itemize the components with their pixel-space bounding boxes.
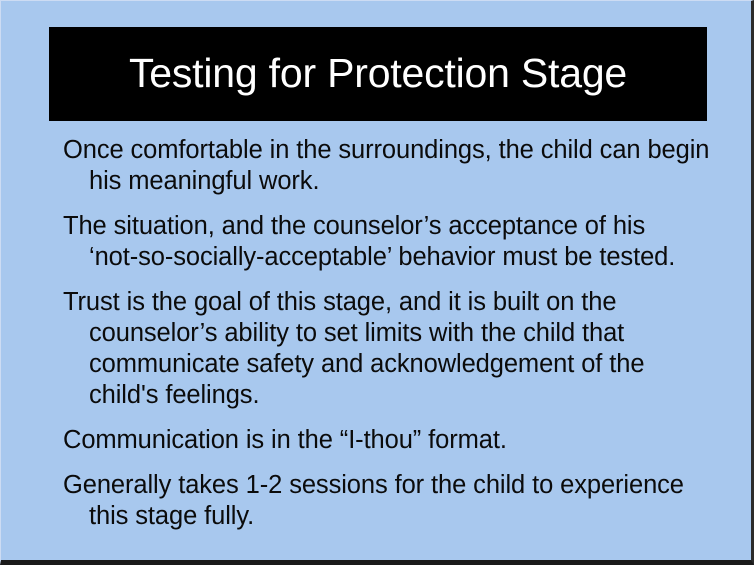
bullet-item: Trust is the goal of this stage, and it …: [63, 287, 689, 411]
bullet-item: The situation, and the counselor’s accep…: [63, 211, 699, 273]
bullet-item: Generally takes 1-2 sessions for the chi…: [63, 470, 707, 532]
slide-body: Once comfortable in the surroundings, th…: [63, 135, 697, 532]
bullet-item: Communication is in the “I-thou” format.: [63, 425, 721, 456]
slide-title: Testing for Protection Stage: [129, 51, 627, 96]
slide-title-bar: Testing for Protection Stage: [49, 27, 707, 121]
presentation-slide: Testing for Protection Stage Once comfor…: [0, 0, 754, 565]
bullet-item: Once comfortable in the surroundings, th…: [63, 135, 721, 197]
